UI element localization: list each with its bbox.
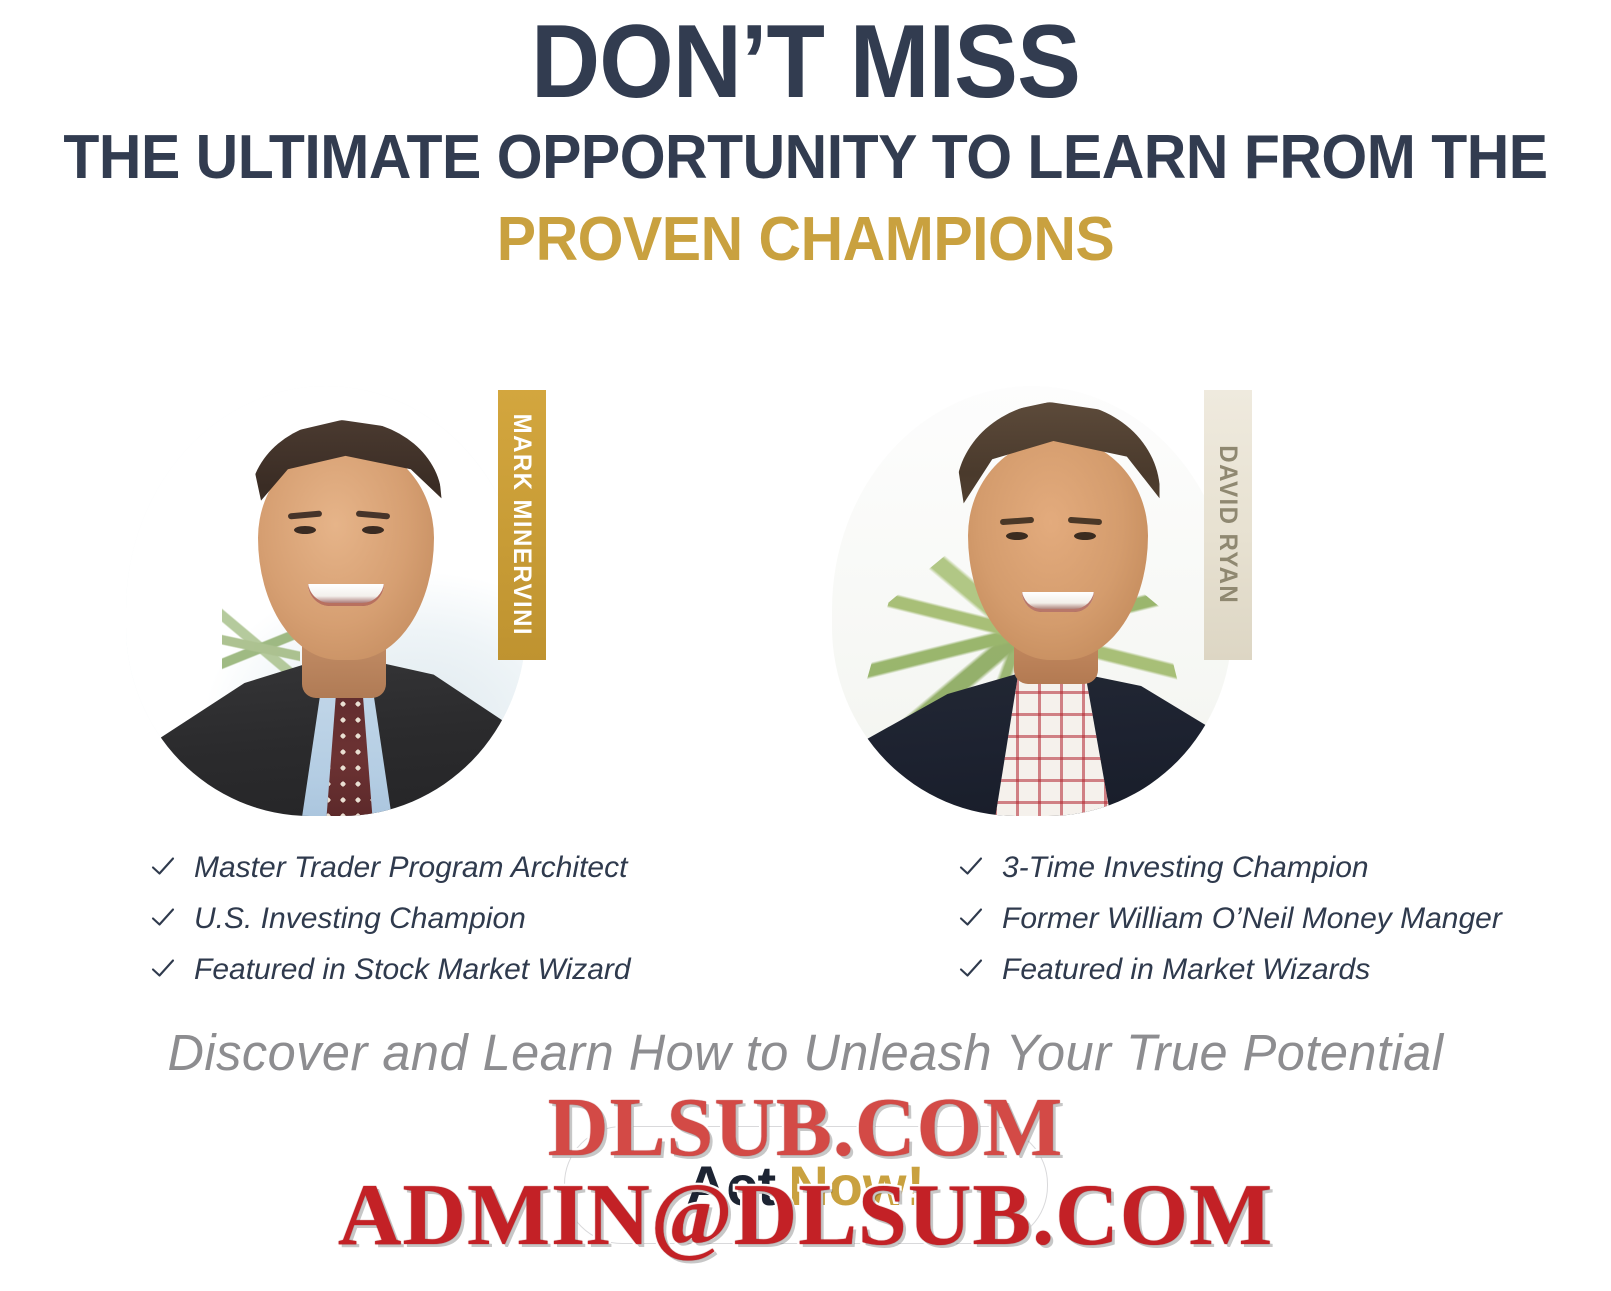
portrait-photo-mark-minervini (126, 386, 526, 816)
face-shape (968, 438, 1148, 660)
credentials-list-david-ryan: 3-Time Investing Champion Former William… (803, 842, 1611, 995)
speaker-name-banner-david-ryan: DAVID RYAN (1204, 390, 1252, 660)
credentials-row: Master Trader Program Architect U.S. Inv… (0, 842, 1611, 995)
list-item: Master Trader Program Architect (150, 842, 803, 893)
speaker-card-david-ryan: DAVID RYAN (806, 378, 1496, 838)
check-icon (150, 904, 176, 930)
speaker-name-label: DAVID RYAN (1213, 446, 1242, 605)
portrait-wrap-mark: MARK MINERVINI (116, 378, 806, 838)
headline-line-2: THE ULTIMATE OPPORTUNITY TO LEARN FROM T… (40, 120, 1570, 196)
list-item-label: U.S. Investing Champion (194, 893, 526, 944)
headline-line-3: PROVEN CHAMPIONS (40, 202, 1570, 278)
list-item-label: Featured in Market Wizards (1002, 944, 1370, 995)
speaker-card-mark-minervini: MARK MINERVINI (116, 378, 806, 838)
eye-right (1074, 532, 1096, 540)
list-item: Featured in Stock Market Wizard (150, 944, 803, 995)
list-item: U.S. Investing Champion (150, 893, 803, 944)
check-icon (150, 955, 176, 981)
check-icon (150, 853, 176, 879)
eye-left (1006, 532, 1028, 540)
credentials-list-mark-minervini: Master Trader Program Architect U.S. Inv… (0, 842, 803, 995)
watermark-email: ADMIN@DLSUB.COM (338, 1172, 1273, 1260)
list-item: 3-Time Investing Champion (958, 842, 1611, 893)
list-item-label: Master Trader Program Architect (194, 842, 627, 893)
list-item-label: 3-Time Investing Champion (1002, 842, 1369, 893)
face-shape (258, 442, 434, 660)
speakers-row: MARK MINERVINI (0, 378, 1611, 838)
speaker-name-banner-mark-minervini: MARK MINERVINI (498, 390, 546, 660)
mouth-shape (308, 584, 384, 606)
list-item: Featured in Market Wizards (958, 944, 1611, 995)
watermark-site: DLSUB.COM (548, 1086, 1063, 1170)
check-icon (958, 904, 984, 930)
list-item: Former William O’Neil Money Manger (958, 893, 1611, 944)
check-icon (958, 955, 984, 981)
speaker-name-label: MARK MINERVINI (507, 414, 536, 636)
tagline: Discover and Learn How to Unleash Your T… (8, 1020, 1603, 1086)
portrait-wrap-david: DAVID RYAN (806, 378, 1496, 838)
mouth-shape (1022, 592, 1094, 612)
portrait-photo-david-ryan (832, 386, 1232, 816)
check-icon (958, 853, 984, 879)
headline-line-1: DON’T MISS (64, 6, 1546, 118)
list-item-label: Featured in Stock Market Wizard (194, 944, 631, 995)
eye-right (362, 526, 384, 534)
eye-left (294, 526, 316, 534)
list-item-label: Former William O’Neil Money Manger (1002, 893, 1502, 944)
promo-page: DON’T MISS THE ULTIMATE OPPORTUNITY TO L… (0, 0, 1611, 1291)
headline-block: DON’T MISS THE ULTIMATE OPPORTUNITY TO L… (0, 6, 1611, 278)
